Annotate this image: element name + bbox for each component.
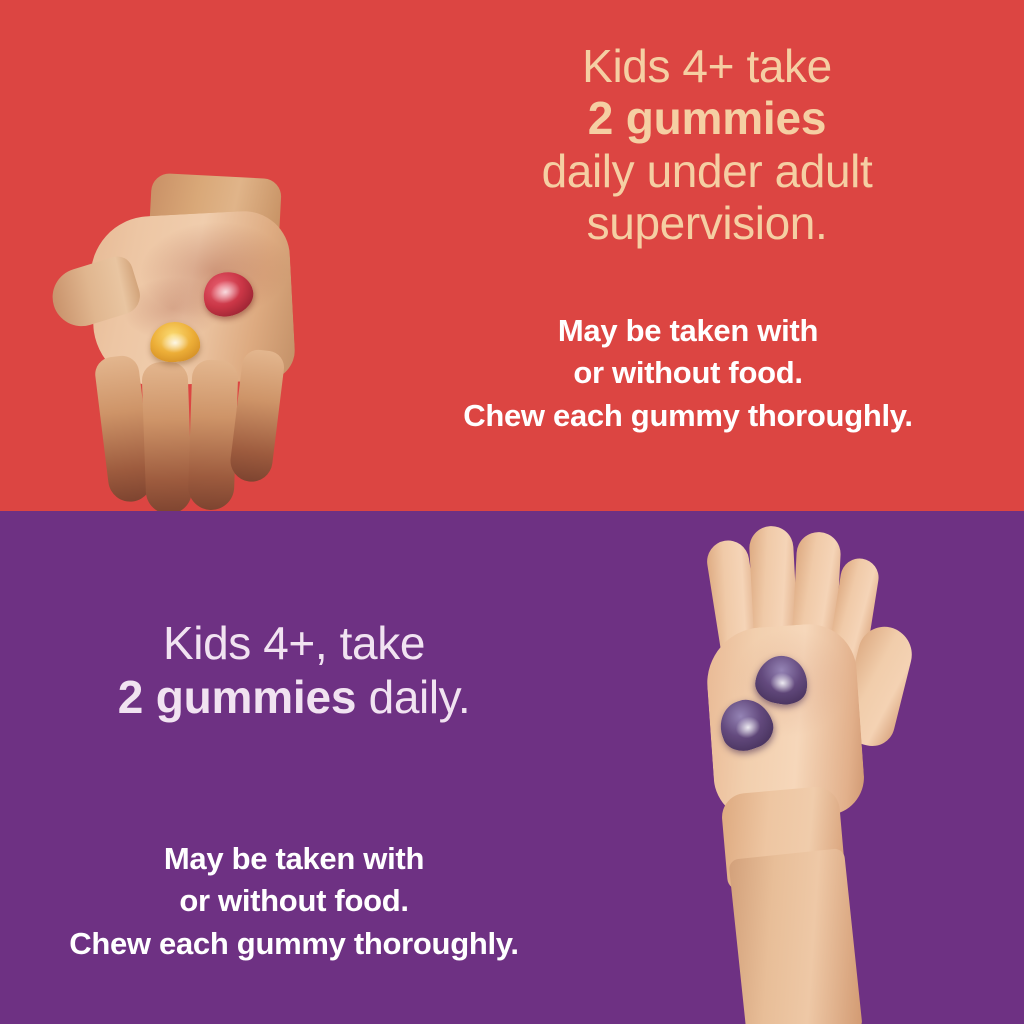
bottom-headline-line-1: Kids 4+, take [0, 616, 588, 670]
bottom-subcopy-line-2: or without food. [0, 880, 588, 922]
top-subcopy-line-2: or without food. [360, 352, 1016, 394]
hand-holding-two-gummies-red-image [40, 0, 380, 511]
finger-shape [187, 359, 238, 511]
bottom-subcopy-line-3: Chew each gummy thoroughly. [0, 923, 588, 965]
bottom-panel-subcopy: May be taken with or without food. Chew … [0, 838, 588, 965]
top-panel-headline: Kids 4+ take 2 gummies daily under adult… [396, 40, 1018, 250]
top-headline-line-2: 2 gummies [396, 92, 1018, 144]
top-subcopy-line-3: Chew each gummy thoroughly. [360, 395, 1016, 437]
bottom-panel-headline: Kids 4+, take 2 gummies daily. [0, 616, 588, 725]
bottom-headline-tail: daily. [356, 671, 470, 723]
dosage-instructions-poster: Kids 4+ take 2 gummies daily under adult… [0, 0, 1024, 1024]
hand-holding-two-gummies-purple-image [660, 518, 960, 1024]
bottom-headline-strong: 2 gummies [118, 671, 357, 723]
top-headline-line-4: supervision. [396, 197, 1018, 249]
top-subcopy-line-1: May be taken with [360, 310, 1016, 352]
top-panel-subcopy: May be taken with or without food. Chew … [360, 310, 1016, 437]
bottom-subcopy-line-1: May be taken with [0, 838, 588, 880]
finger-shape [141, 361, 192, 511]
top-headline-line-3: daily under adult [396, 145, 1018, 197]
top-panel-red: Kids 4+ take 2 gummies daily under adult… [0, 0, 1024, 511]
forearm-shape [728, 848, 862, 1024]
top-headline-line-1: Kids 4+ take [396, 40, 1018, 92]
bottom-headline-line-2: 2 gummies daily. [0, 670, 588, 724]
